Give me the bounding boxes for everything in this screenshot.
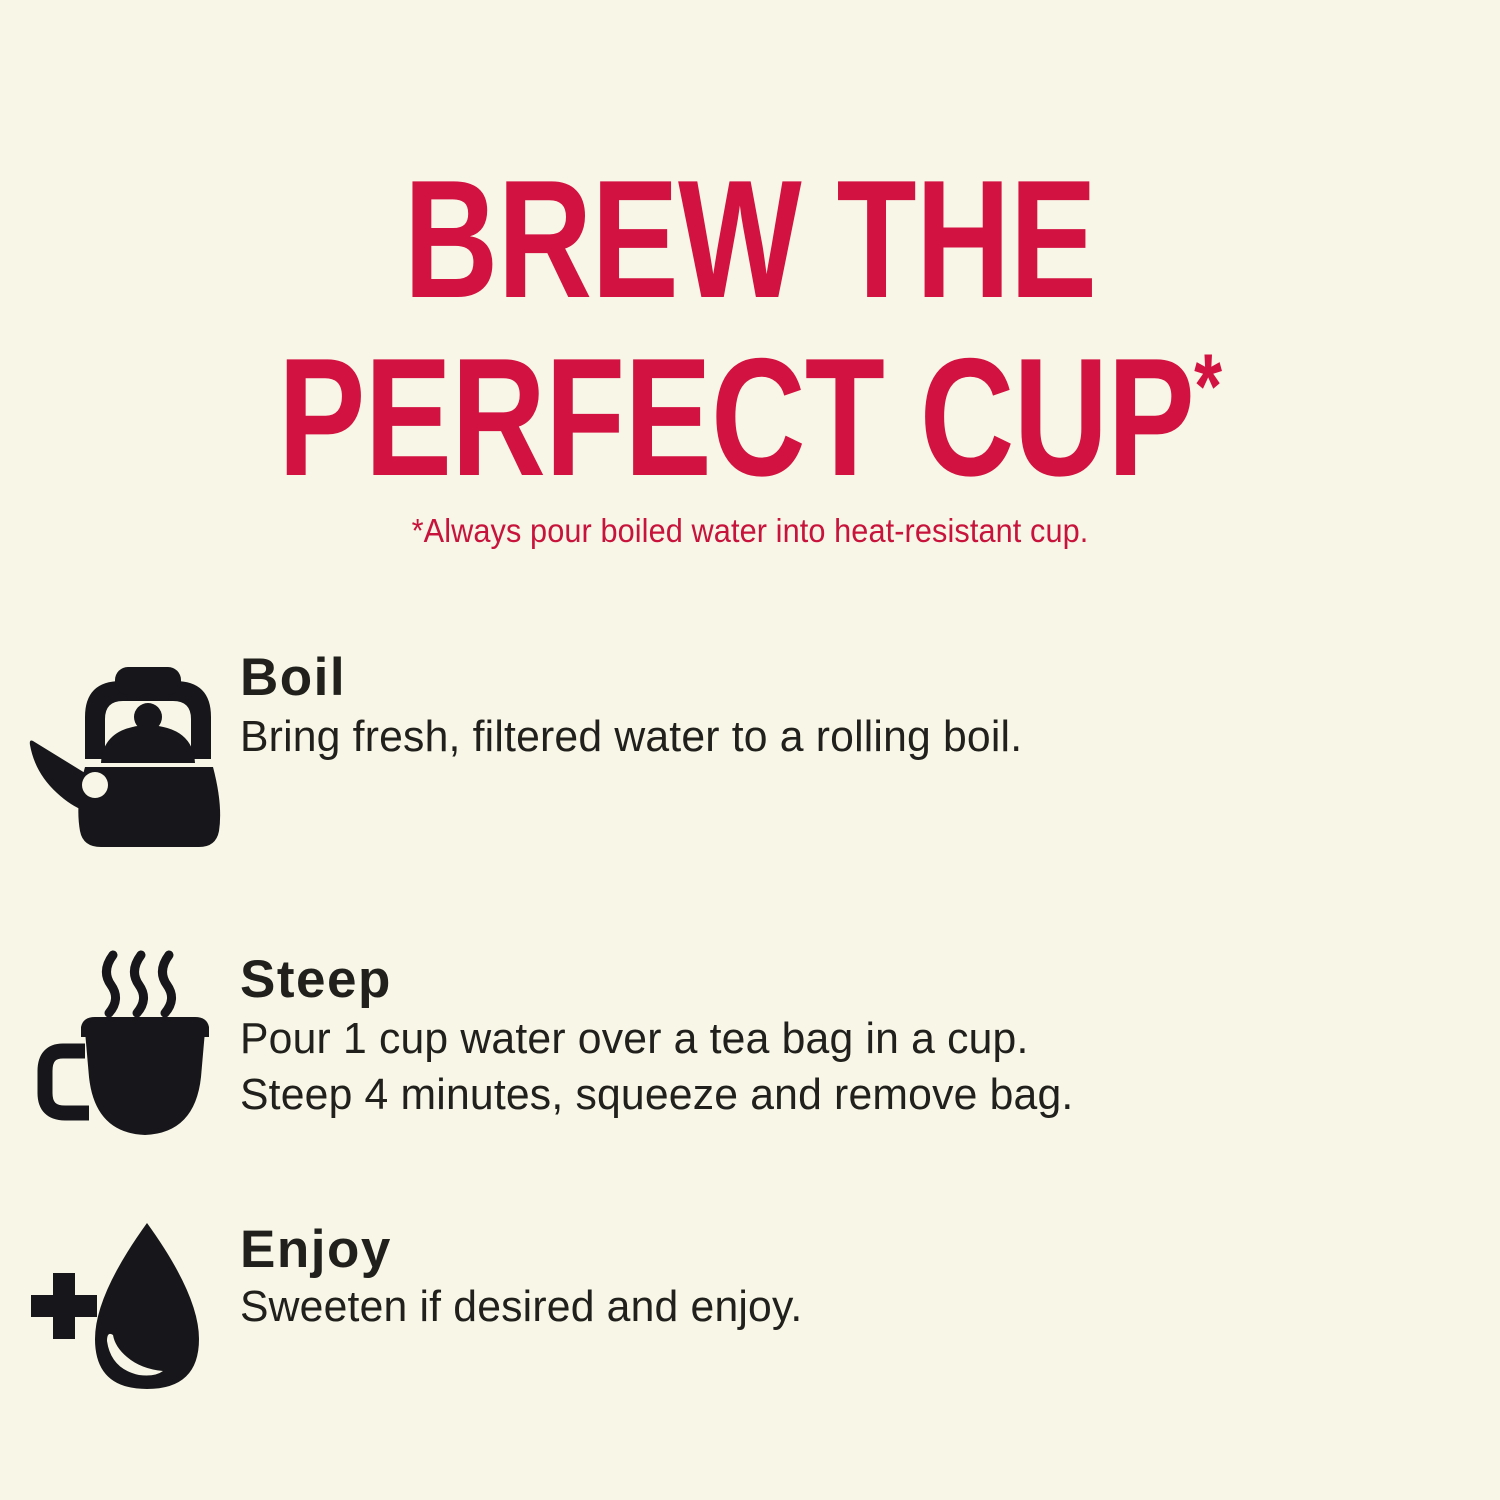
headline-line-2-text: PERFECT CUP (278, 323, 1194, 511)
subtitle-disclaimer: *Always pour boiled water into heat-resi… (53, 512, 1448, 550)
kettle-icon (0, 645, 240, 855)
step-boil-body: Bring fresh, filtered water to a rolling… (240, 709, 1022, 765)
droplet-icon (95, 1223, 199, 1389)
step-steep-body: Pour 1 cup water over a tea bag in a cup… (240, 1011, 1073, 1124)
headline-line-1: BREW THE (165, 160, 1335, 320)
step-enjoy-title: Enjoy (240, 1223, 820, 1277)
step-steep: Steep Pour 1 cup water over a tea bag in… (0, 947, 1500, 1147)
step-enjoy-body-line-1: Sweeten if desired and enjoy. (240, 1279, 802, 1335)
headline-asterisk: * (1194, 336, 1222, 438)
headline-block: BREW THE PERFECT CUP* (0, 160, 1500, 497)
plus-icon (31, 1273, 97, 1339)
step-enjoy-body: Sweeten if desired and enjoy. (240, 1279, 802, 1335)
step-boil-text: Boil Bring fresh, filtered water to a ro… (240, 645, 1046, 765)
step-boil-body-line-1: Bring fresh, filtered water to a rolling… (240, 709, 1022, 765)
headline-line-2: PERFECT CUP* (165, 338, 1335, 498)
step-steep-text: Steep Pour 1 cup water over a tea bag in… (240, 947, 1099, 1124)
step-boil-title: Boil (240, 651, 1046, 705)
step-steep-body-line-2: Steep 4 minutes, squeeze and remove bag. (240, 1067, 1073, 1123)
step-enjoy-text: Enjoy Sweeten if desired and enjoy. (240, 1217, 820, 1335)
step-boil: Boil Bring fresh, filtered water to a ro… (0, 645, 1500, 855)
steps-list: Boil Bring fresh, filtered water to a ro… (0, 645, 1500, 1417)
step-steep-body-line-1: Pour 1 cup water over a tea bag in a cup… (240, 1011, 1073, 1067)
plus-droplet-icon (0, 1217, 240, 1417)
brew-instructions-poster: BREW THE PERFECT CUP* *Always pour boile… (0, 0, 1500, 1500)
step-steep-title: Steep (240, 953, 1099, 1007)
step-enjoy: Enjoy Sweeten if desired and enjoy. (0, 1217, 1500, 1417)
steaming-cup-icon (0, 947, 240, 1147)
